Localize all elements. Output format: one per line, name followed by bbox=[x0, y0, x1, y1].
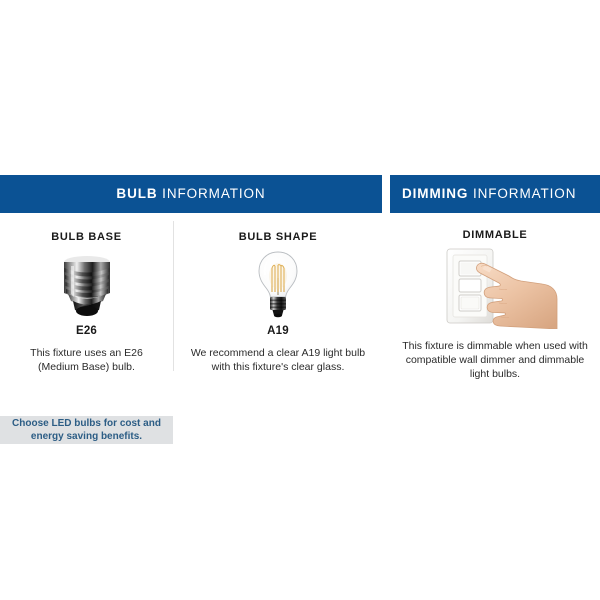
dimming-information-body: DIMMABLE bbox=[390, 213, 600, 420]
bulb-shape-a19-icon bbox=[256, 250, 300, 322]
bulb-shape-value: A19 bbox=[174, 325, 382, 337]
dimmable-image bbox=[390, 245, 600, 329]
bulb-information-module: BULB INFORMATION BULB BASE bbox=[0, 0, 600, 600]
bulb-information-header-text: BULB INFORMATION bbox=[116, 187, 265, 201]
dimming-information-panel: DIMMING INFORMATION DIMMABLE bbox=[390, 175, 600, 420]
bulb-shape-title: BULB SHAPE bbox=[174, 231, 382, 243]
bulb-shape-column: BULB SHAPE bbox=[174, 213, 382, 420]
bulb-information-header: BULB INFORMATION bbox=[0, 175, 382, 213]
bulb-shape-image bbox=[174, 249, 382, 323]
bulb-base-image bbox=[0, 249, 173, 323]
dimming-information-header-text: DIMMING INFORMATION bbox=[402, 187, 576, 201]
bulb-shape-description: We recommend a clear A19 light bulb with… bbox=[186, 346, 369, 374]
bulb-information-body: BULB BASE bbox=[0, 213, 382, 420]
wall-dimmer-switch-hand-icon bbox=[429, 245, 561, 329]
bulb-header-light: INFORMATION bbox=[158, 186, 266, 201]
dimmable-title: DIMMABLE bbox=[390, 229, 600, 241]
bulb-base-value: E26 bbox=[0, 325, 173, 337]
bulb-base-description: This fixture uses an E26 (Medium Base) b… bbox=[12, 346, 161, 374]
dimming-information-header: DIMMING INFORMATION bbox=[390, 175, 600, 213]
dimming-header-strong: DIMMING bbox=[402, 186, 468, 201]
bulb-base-column: BULB BASE bbox=[0, 213, 173, 420]
dimmable-description: This fixture is dimmable when used with … bbox=[401, 339, 590, 381]
dimming-header-light: INFORMATION bbox=[468, 186, 576, 201]
bulb-base-title: BULB BASE bbox=[0, 231, 173, 243]
bulb-base-e26-icon bbox=[56, 253, 118, 319]
bulb-information-panel: BULB INFORMATION BULB BASE bbox=[0, 175, 382, 420]
led-tip-callout: Choose LED bulbs for cost and energy sav… bbox=[0, 416, 173, 444]
bulb-header-strong: BULB bbox=[116, 186, 157, 201]
led-tip-text: Choose LED bulbs for cost and energy sav… bbox=[0, 417, 173, 443]
